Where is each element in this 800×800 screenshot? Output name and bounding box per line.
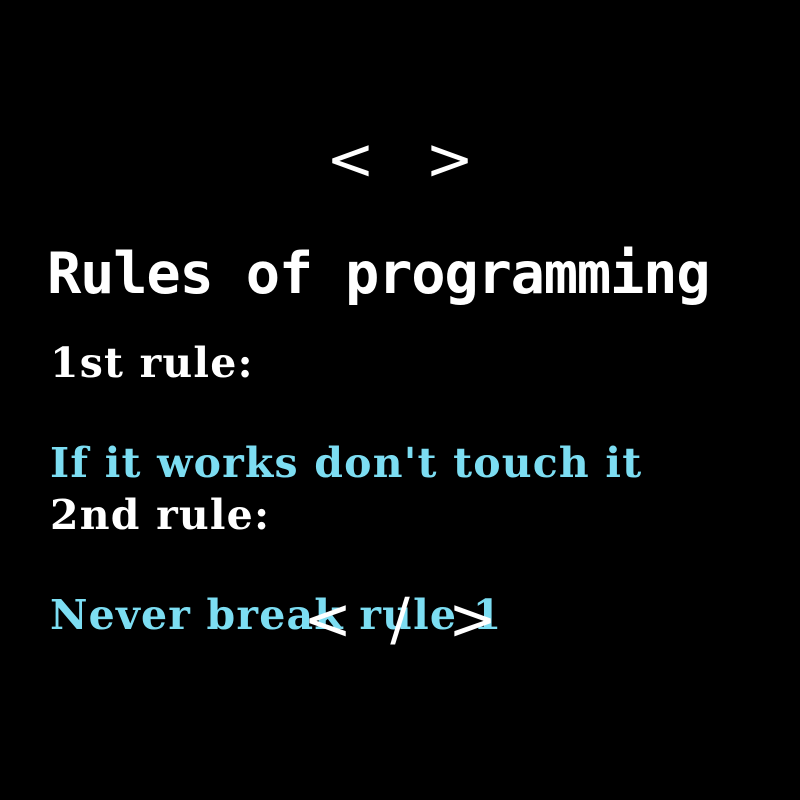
rule-label-2: 2nd rule: (50, 488, 502, 542)
rule-label-1: 1st rule: (50, 336, 642, 390)
code-open-tag-icon: < > (0, 128, 800, 190)
poster-canvas: < > Rules of programming 1st rule: If it… (0, 0, 800, 800)
code-close-tag-icon: < / > (0, 586, 800, 652)
